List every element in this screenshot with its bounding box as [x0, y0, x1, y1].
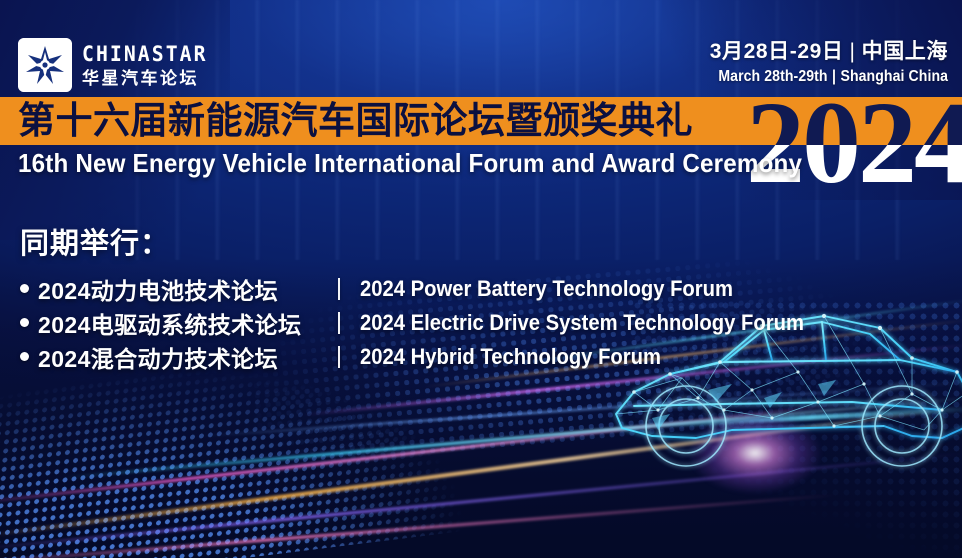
- date-location-block: 3月28日-29日|中国上海 March 28th-29th|Shanghai …: [687, 40, 948, 86]
- forum-list-item: 2024混合动力技术论坛 2024 Hybrid Technology Foru…: [20, 342, 843, 371]
- star-burst-emblem-icon: [18, 38, 72, 92]
- bullet-icon: [20, 318, 29, 327]
- date-en-text: March 28th-29th: [718, 68, 827, 85]
- forum-name-cn: 2024动力电池技术论坛: [38, 272, 330, 306]
- forum-list-item: 2024电驱动系统技术论坛 2024 Electric Drive System…: [20, 308, 843, 337]
- year-text-top: 2024: [746, 84, 962, 145]
- date-location-cn: 3月28日-29日|中国上海: [687, 40, 948, 64]
- forum-separator: [338, 312, 340, 334]
- forum-name-en: 2024 Power Battery Technology Forum: [360, 276, 733, 302]
- concurrent-heading: 同期举行：: [20, 220, 843, 262]
- concurrent-events-section: 同期举行： 2024动力电池技术论坛 2024 Power Battery Te…: [20, 220, 843, 376]
- main-title-cn: 第十六届新能源汽车国际论坛暨颁奖典礼: [18, 98, 693, 144]
- forum-name-en: 2024 Electric Drive System Technology Fo…: [360, 310, 804, 336]
- logo-name-en: CHINASTAR: [82, 44, 208, 65]
- bullet-icon: [20, 352, 29, 361]
- main-title-en: 16th New Energy Vehicle International Fo…: [18, 148, 802, 179]
- location-cn-text: 中国上海: [862, 40, 948, 63]
- bullet-icon: [20, 284, 29, 293]
- chinastar-logo[interactable]: CHINASTAR 华星汽车论坛: [18, 38, 216, 92]
- date-cn-text: 3月28日-29日: [710, 40, 844, 63]
- forum-list: 2024动力电池技术论坛 2024 Power Battery Technolo…: [20, 274, 843, 371]
- forum-separator: [338, 278, 340, 300]
- date-en-separator: |: [828, 68, 841, 85]
- forum-list-item: 2024动力电池技术论坛 2024 Power Battery Technolo…: [20, 274, 843, 303]
- year-numerals-top: 2024: [746, 84, 962, 145]
- event-poster: CHINASTAR 华星汽车论坛 3月28日-29日|中国上海 March 28…: [0, 0, 962, 558]
- location-en-text: Shanghai China: [840, 68, 948, 85]
- forum-name-cn: 2024电驱动系统技术论坛: [38, 306, 330, 340]
- date-cn-separator: |: [844, 40, 862, 63]
- forum-name-en: 2024 Hybrid Technology Forum: [360, 344, 661, 370]
- forum-name-cn: 2024混合动力技术论坛: [38, 340, 330, 374]
- forum-separator: [338, 346, 340, 368]
- logo-wordmark: CHINASTAR 华星汽车论坛: [82, 44, 216, 87]
- logo-name-cn: 华星汽车论坛: [82, 70, 216, 87]
